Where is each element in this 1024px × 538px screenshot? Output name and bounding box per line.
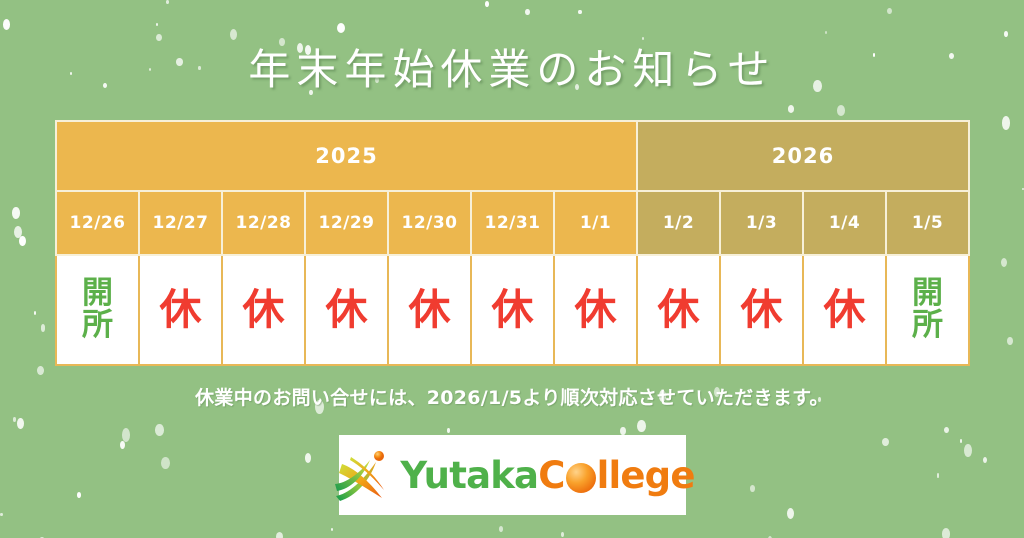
background-speck <box>166 0 169 4</box>
date-header-cell: 1/4 <box>803 191 886 255</box>
status-cell-closed: 休 <box>803 255 886 365</box>
status-char: 所 <box>82 310 113 342</box>
background-speck <box>525 9 529 15</box>
status-cell-open: 開所 <box>886 255 969 365</box>
background-speck <box>14 226 22 238</box>
background-speck <box>37 366 44 375</box>
date-header-cell: 12/28 <box>222 191 305 255</box>
background-speck <box>642 37 644 40</box>
background-speck <box>637 420 646 433</box>
background-speck <box>882 438 889 446</box>
status-label: 開所 <box>82 278 113 341</box>
status-row: 開所休休休休休休休休休開所 <box>56 255 969 365</box>
logo-wordmark: Yutaka C llege <box>400 457 694 494</box>
background-speck <box>825 31 827 34</box>
background-speck <box>1004 31 1008 36</box>
page-title: 年末年始休業のお知らせ <box>0 42 1024 98</box>
logo-word-yutaka: Yutaka <box>400 457 538 494</box>
background-speck <box>41 324 46 332</box>
background-speck <box>447 428 450 433</box>
status-label: 休 <box>491 289 533 332</box>
background-speck <box>19 236 26 246</box>
date-header-cell: 12/30 <box>388 191 471 255</box>
background-speck <box>1002 116 1011 130</box>
background-speck <box>12 207 20 218</box>
background-speck <box>161 457 170 469</box>
status-cell-closed: 休 <box>471 255 554 365</box>
background-speck <box>230 29 237 40</box>
background-speck <box>942 528 951 538</box>
background-speck <box>750 485 756 492</box>
status-cell-closed: 休 <box>222 255 305 365</box>
status-label: 休 <box>242 289 284 332</box>
status-label: 休 <box>740 289 782 332</box>
status-label: 開所 <box>912 278 943 341</box>
announcement-banner: 年末年始休業のお知らせ 20252026 12/2612/2712/2812/2… <box>0 0 1024 538</box>
status-char: 開 <box>912 278 943 310</box>
background-speck <box>305 453 312 463</box>
date-header-cell: 1/1 <box>554 191 637 255</box>
status-label: 休 <box>657 289 699 332</box>
date-header-cell: 1/2 <box>637 191 720 255</box>
background-speck <box>337 23 346 34</box>
status-char: 開 <box>82 278 113 310</box>
background-speck <box>156 34 162 41</box>
background-speck <box>3 19 10 30</box>
status-cell-closed: 休 <box>720 255 803 365</box>
status-label: 休 <box>408 289 450 332</box>
status-cell-closed: 休 <box>388 255 471 365</box>
background-speck <box>887 8 892 14</box>
status-label: 休 <box>159 289 201 332</box>
status-cell-closed: 休 <box>305 255 388 365</box>
background-speck <box>964 444 972 457</box>
background-speck <box>122 428 130 442</box>
date-header-cell: 1/5 <box>886 191 969 255</box>
year-header-2026: 2026 <box>637 121 969 191</box>
company-logo: Yutaka C llege <box>339 435 686 515</box>
status-cell-closed: 休 <box>554 255 637 365</box>
background-speck <box>837 105 845 116</box>
background-speck <box>17 418 24 429</box>
logo-word-college: C llege <box>538 457 694 494</box>
orange-orb-letter-o-icon <box>566 463 596 493</box>
date-header-cell: 12/27 <box>139 191 222 255</box>
background-speck <box>331 528 333 531</box>
year-header-2025: 2025 <box>56 121 637 191</box>
background-speck <box>77 492 81 498</box>
background-speck <box>937 473 940 478</box>
background-speck <box>34 311 37 314</box>
background-speck <box>120 441 125 449</box>
status-char: 所 <box>912 310 943 342</box>
background-speck <box>1007 337 1013 345</box>
background-speck <box>561 532 564 537</box>
background-speck <box>578 10 582 15</box>
background-speck <box>787 508 794 520</box>
status-label: 休 <box>574 289 616 332</box>
background-speck <box>0 513 3 516</box>
background-speck <box>499 526 503 532</box>
year-header-row: 20252026 <box>56 121 969 191</box>
status-label: 休 <box>325 289 367 332</box>
background-speck <box>944 427 949 433</box>
status-cell-closed: 休 <box>139 255 222 365</box>
background-speck <box>485 1 489 7</box>
status-cell-open: 開所 <box>56 255 139 365</box>
background-speck <box>983 457 987 463</box>
background-speck <box>1001 258 1007 267</box>
logo-letters-llege: llege <box>597 457 695 494</box>
background-speck <box>13 417 17 422</box>
date-header-cell: 1/3 <box>720 191 803 255</box>
holiday-schedule-table: 20252026 12/2612/2712/2812/2912/3012/311… <box>55 120 970 366</box>
background-speck <box>276 532 283 538</box>
date-header-cell: 12/26 <box>56 191 139 255</box>
holiday-note-text: 休業中のお問い合せには、2026/1/5より順次対応させていただきます。 <box>0 383 1024 410</box>
date-header-cell: 12/29 <box>305 191 388 255</box>
date-header-row: 12/2612/2712/2812/2912/3012/311/11/21/31… <box>56 191 969 255</box>
background-speck <box>155 424 164 436</box>
status-label: 休 <box>823 289 865 332</box>
background-speck <box>156 23 158 27</box>
logo-letter-c: C <box>538 457 564 494</box>
date-header-cell: 12/31 <box>471 191 554 255</box>
background-speck <box>960 439 963 443</box>
background-speck <box>788 105 795 113</box>
status-cell-closed: 休 <box>637 255 720 365</box>
yutaka-swoosh-mark-icon <box>330 446 394 506</box>
